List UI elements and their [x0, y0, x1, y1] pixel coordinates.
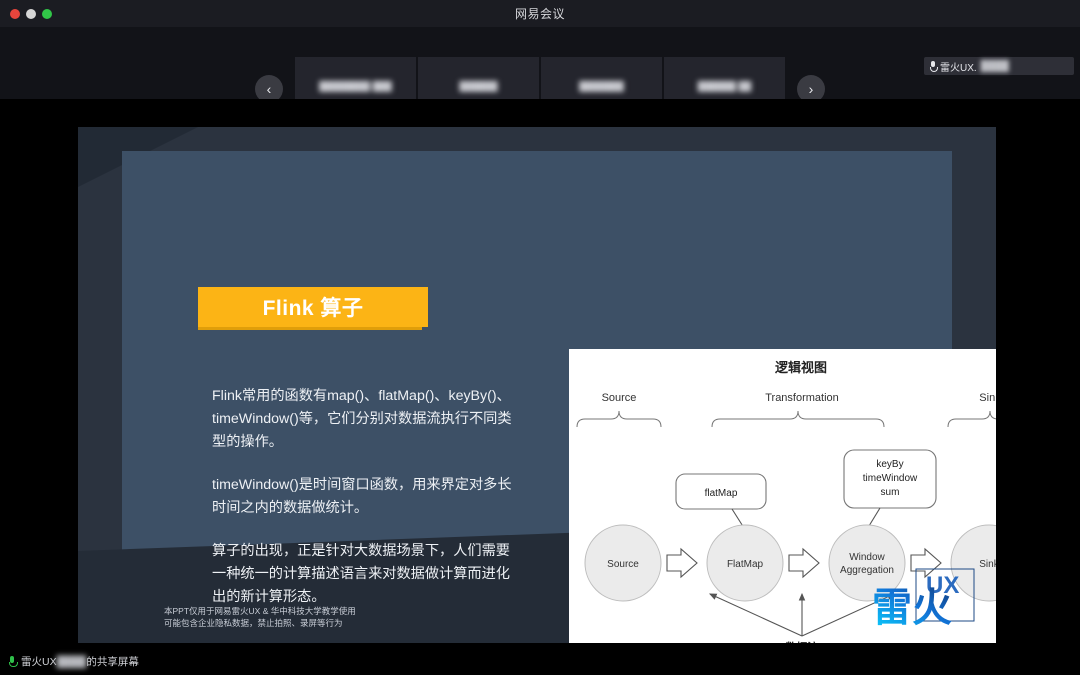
slide-disclaimer: 本PPT仅用于网易雷火UX & 华中科技大学教学使用 可能包含企业隐私数据，禁止…	[164, 605, 356, 629]
stream-line-left	[710, 594, 802, 636]
participant-name: ███████	[541, 81, 662, 91]
self-participant-chip[interactable]: 雷火UX. ████	[924, 57, 1074, 75]
slide-paragraph-2: timeWindow()是时间窗口函数，用来界定对多长时间之内的数据做统计。	[212, 474, 512, 520]
minimize-window-icon[interactable]	[26, 9, 36, 19]
close-window-icon[interactable]	[10, 9, 20, 19]
phase-label-transformation: Transformation	[765, 392, 839, 404]
operator-box-flatmap-label: flatMap	[705, 488, 738, 499]
operator-box-keyby-line2: timeWindow	[863, 473, 918, 484]
disclaimer-line-2: 可能包含企业隐私数据，禁止拍照、录屏等行为	[164, 617, 356, 629]
participant-name: ██████ ██	[664, 81, 785, 91]
slide-title-banner: Flink 算子	[198, 287, 428, 327]
brace-sink	[948, 411, 996, 427]
shared-screen-stage: Flink 算子 Flink常用的函数有map()、flatMap()、keyB…	[0, 99, 1080, 648]
share-status-blurred-name: ████	[57, 656, 87, 668]
block-arrow-2	[789, 549, 819, 577]
slide-body-text: Flink常用的函数有map()、flatMap()、keyBy()、timeW…	[212, 385, 512, 609]
leihuo-ux-logo: UX 雷火	[870, 559, 982, 633]
slide-paragraph-3: 算子的出现，正是针对大数据场景下，人们需要一种统一的计算描述语言来对数据做计算而…	[212, 540, 512, 609]
phase-label-source: Source	[602, 392, 637, 404]
self-name-blurred: ████	[981, 61, 1009, 72]
share-status-prefix: 雷火UX	[21, 654, 57, 669]
slide-paragraph-1: Flink常用的函数有map()、flatMap()、keyBy()、timeW…	[212, 385, 512, 454]
slide-title: Flink 算子	[263, 292, 364, 322]
mic-icon	[929, 61, 936, 72]
app-title: 网易会议	[0, 5, 1080, 22]
share-status-row: 雷火UX ████ 的共享屏幕	[21, 654, 139, 669]
share-status-bar: 雷火UX ████ 的共享屏幕	[0, 648, 1080, 675]
participant-name: ██████	[418, 81, 539, 91]
self-name-label: 雷火UX.	[940, 59, 977, 74]
stream-label: 数据流	[786, 640, 819, 643]
operator-box-keyby-line3: sum	[881, 487, 900, 498]
meeting-window: 网易会议 ‹ › ████████ ███ ████████ ███ █████…	[0, 0, 1080, 675]
mic-icon	[8, 656, 16, 668]
block-arrow-1	[667, 549, 697, 577]
presentation-slide: Flink 算子 Flink常用的函数有map()、flatMap()、keyB…	[78, 127, 996, 643]
maximize-window-icon[interactable]	[42, 9, 52, 19]
phase-label-sink: Sink	[979, 392, 996, 404]
node-source-label: Source	[607, 559, 639, 570]
node-flatmap-label: FlatMap	[727, 559, 764, 570]
window-titlebar: 网易会议	[0, 0, 1080, 27]
brace-transformation	[712, 411, 884, 427]
participant-strip: ‹ › ████████ ███ ████████ ███ ██████ ███…	[0, 27, 1080, 99]
disclaimer-line-1: 本PPT仅用于网易雷火UX & 华中科技大学教学使用	[164, 605, 356, 617]
operator-box-keyby-line1: keyBy	[876, 459, 903, 470]
share-status-suffix: 的共享屏幕	[86, 654, 139, 669]
traffic-lights	[10, 9, 52, 19]
brace-source	[577, 411, 661, 427]
participant-name: ████████ ███	[295, 81, 416, 91]
logo-cjk-text: 雷火	[872, 585, 952, 631]
